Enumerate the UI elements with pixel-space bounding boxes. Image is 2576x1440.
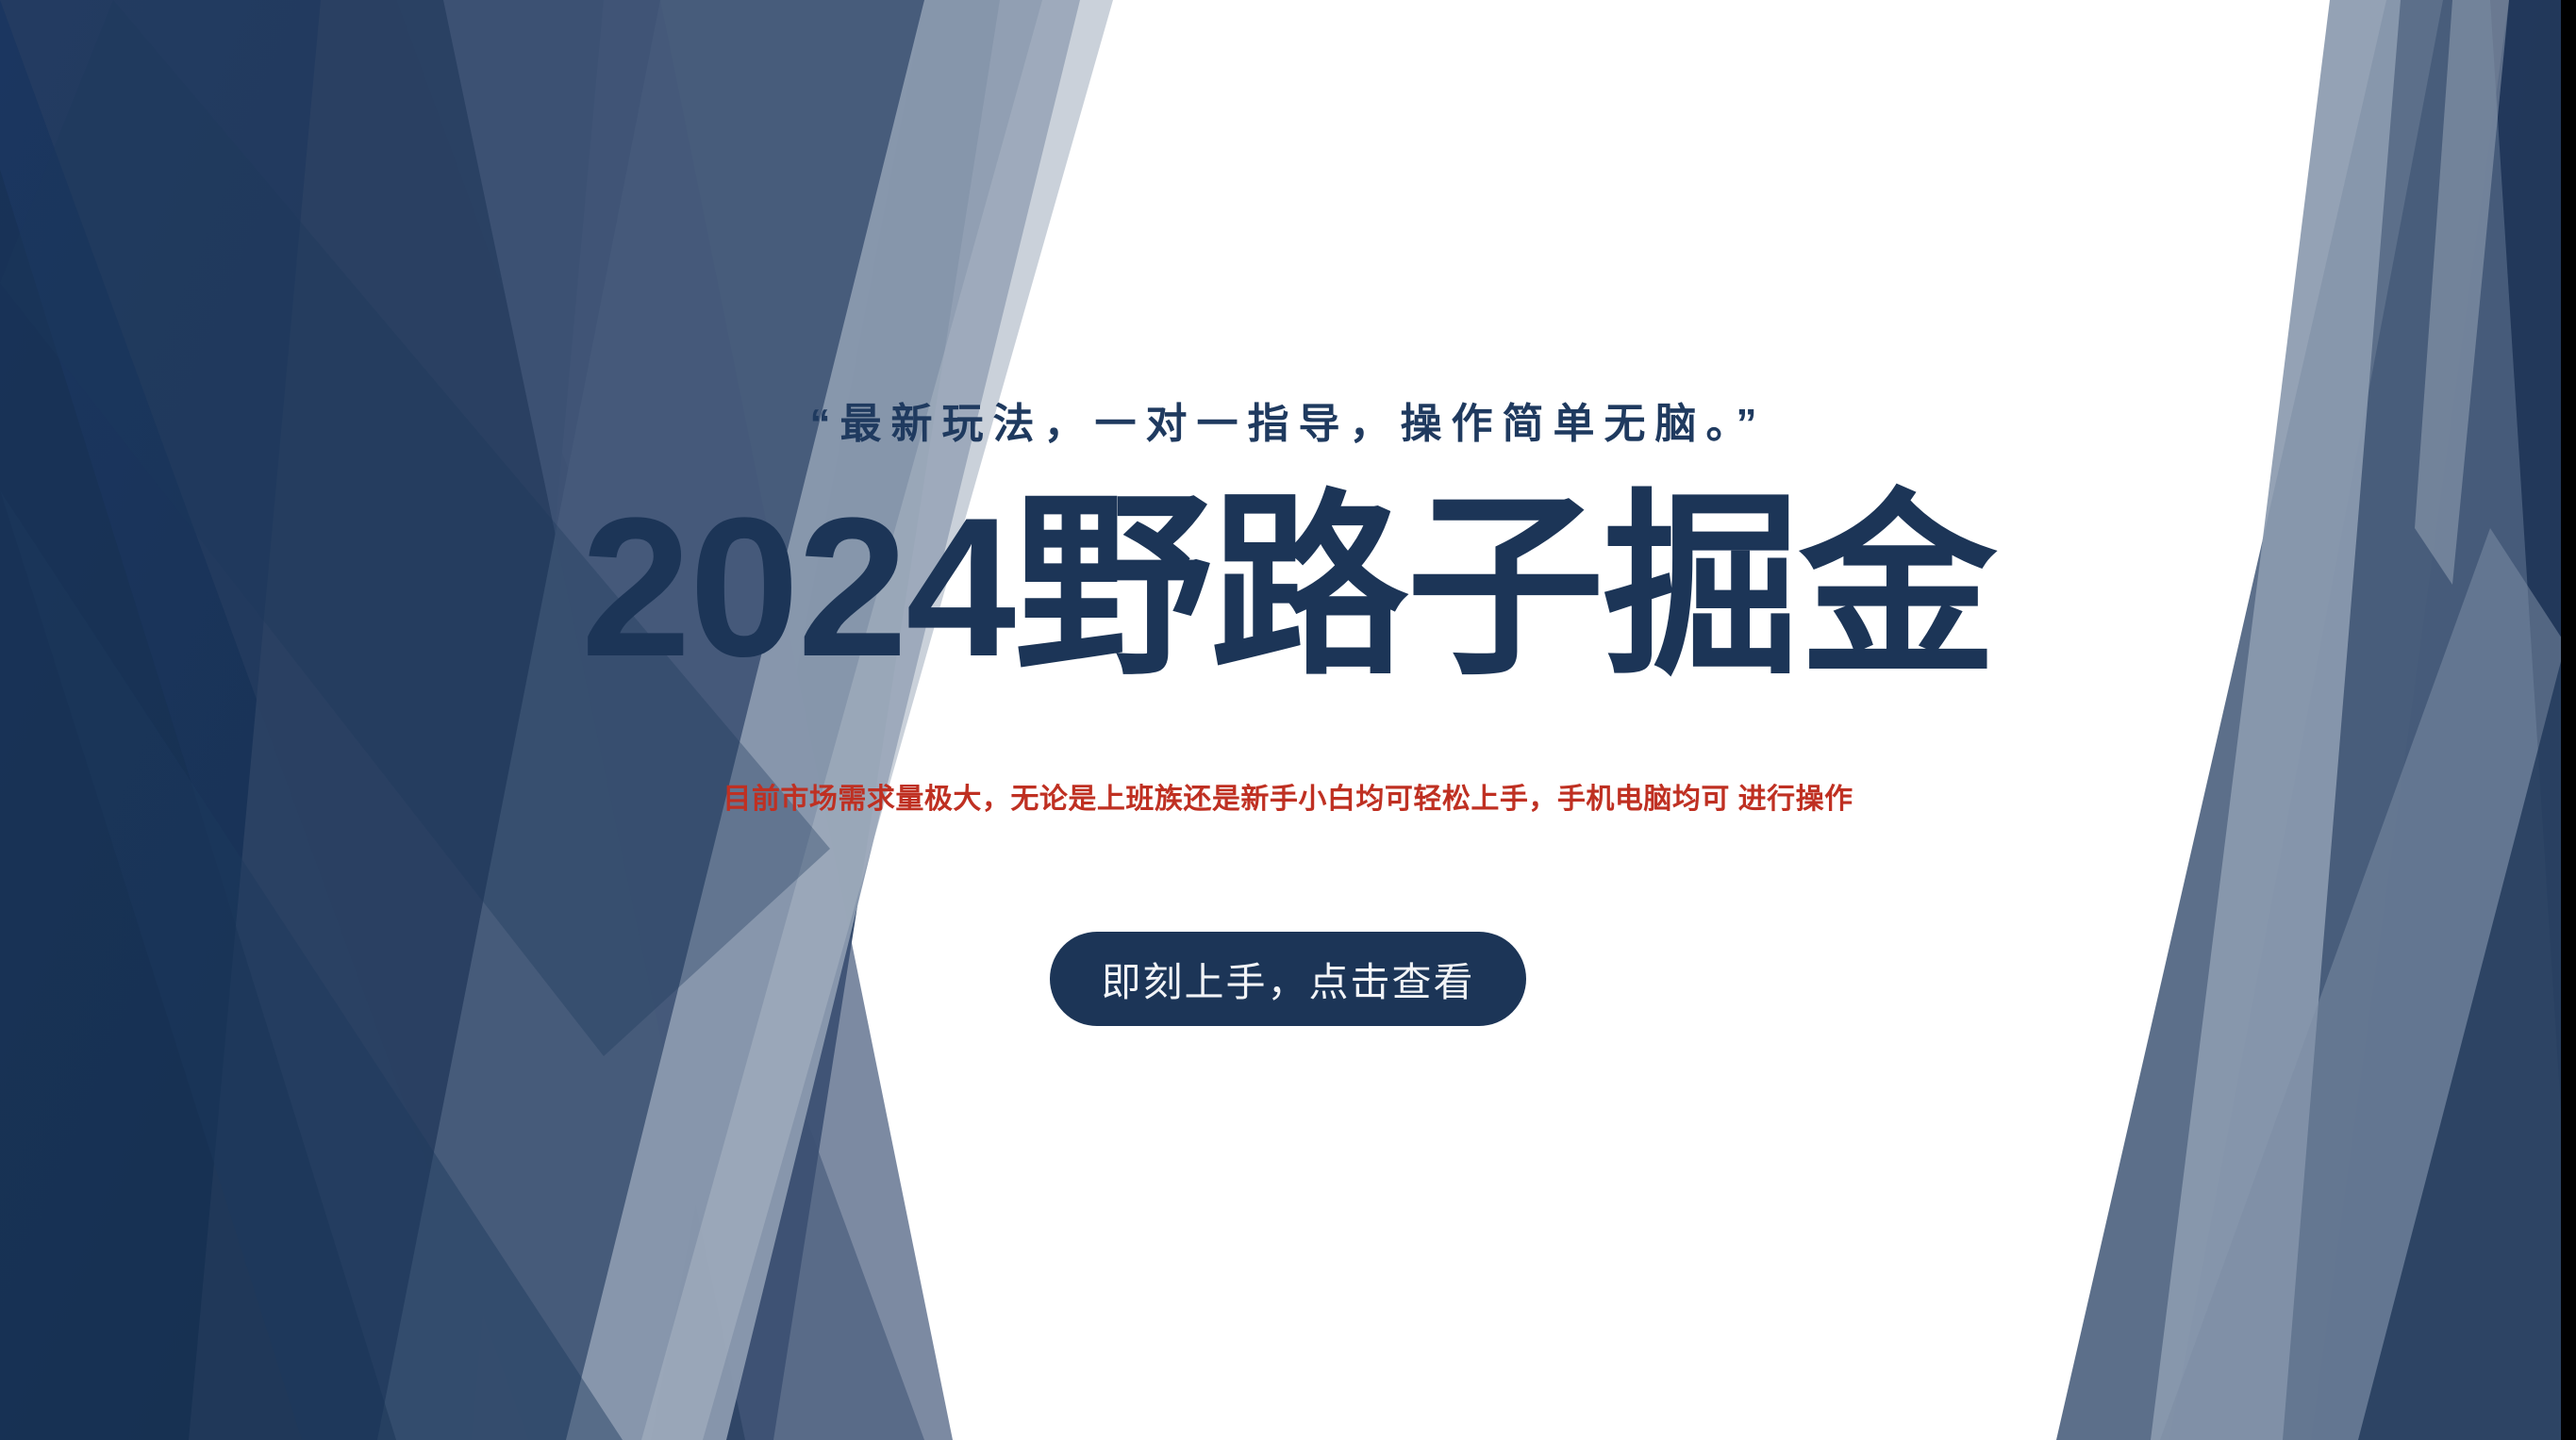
subtitle-line-1: 目前市场需求量极大，无论是上班族还是新手小白均可轻松上手，手机电脑均可 [723, 784, 1730, 815]
cta-button[interactable]: 即刻上手，点击查看 [1050, 932, 1525, 1026]
cta-container: 即刻上手，点击查看 [0, 932, 2576, 1026]
subtitle-line-2: 进行操作 [1738, 784, 1853, 815]
slide-content: “最新玩法，一对一指导，操作简单无脑。” 2024野路子掘金 目前市场需求量极大… [0, 0, 2576, 1440]
presentation-slide: “最新玩法，一对一指导，操作简单无脑。” 2024野路子掘金 目前市场需求量极大… [0, 0, 2576, 1440]
subtitle-block: 目前市场需求量极大，无论是上班族还是新手小白均可轻松上手，手机电脑均可 进行操作 [723, 771, 1854, 828]
page-title: 2024野路子掘金 [0, 481, 2576, 695]
tagline: “最新玩法，一对一指导，操作简单无脑。” [0, 400, 2576, 450]
